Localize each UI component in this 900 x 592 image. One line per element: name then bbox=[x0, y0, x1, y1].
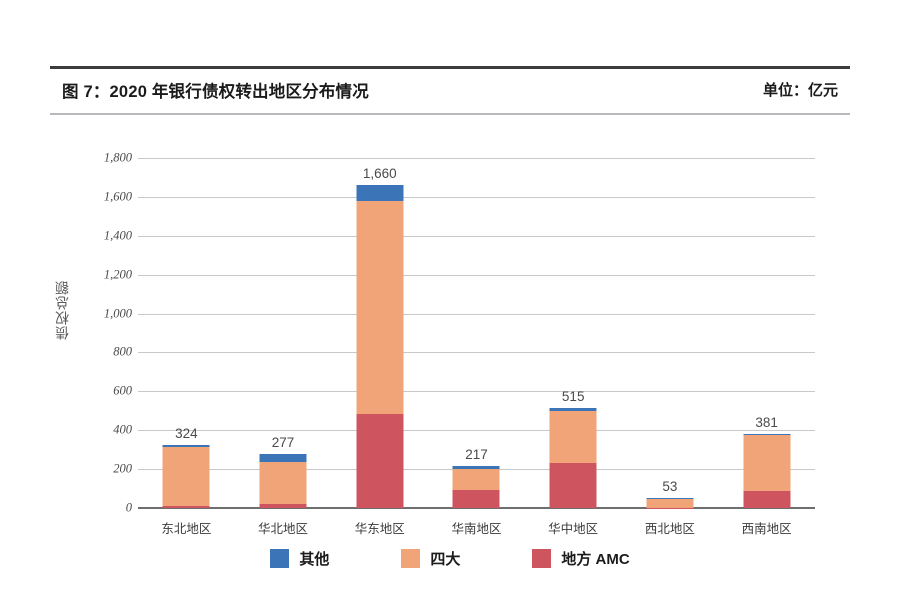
bar-group[interactable]: 277华北地区 bbox=[235, 158, 332, 508]
figure-container: 图 7：2020 年银行债权转出地区分布情况 单位：亿元 债权总额 020040… bbox=[0, 0, 900, 592]
bar-value-label: 277 bbox=[272, 435, 295, 450]
legend-swatch-orange bbox=[401, 549, 420, 568]
bar-segment[interactable] bbox=[550, 411, 597, 463]
y-axis-tick: 600 bbox=[74, 384, 132, 399]
bar-segment[interactable] bbox=[646, 499, 693, 508]
bar-segment[interactable] bbox=[743, 491, 790, 508]
y-axis-tick: 400 bbox=[74, 423, 132, 438]
stacked-bar[interactable] bbox=[260, 454, 307, 508]
legend-label: 其他 bbox=[299, 548, 329, 569]
x-axis-tick: 华中地区 bbox=[548, 518, 598, 537]
bar-segment[interactable] bbox=[356, 185, 403, 201]
bar-segment[interactable] bbox=[453, 469, 500, 489]
header-bottom-rule bbox=[50, 113, 850, 115]
bar-value-label: 381 bbox=[755, 415, 778, 430]
x-axis-tick: 华东地区 bbox=[355, 518, 405, 537]
stacked-bar[interactable] bbox=[743, 434, 790, 508]
bar-segment[interactable] bbox=[550, 463, 597, 508]
bar-value-label: 217 bbox=[465, 447, 488, 462]
bar-value-label: 515 bbox=[562, 389, 585, 404]
plot-area: 324东北地区277华北地区1,660华东地区217华南地区515华中地区53西… bbox=[138, 158, 815, 508]
bar-value-label: 53 bbox=[662, 479, 677, 494]
unit-note: 单位：亿元 bbox=[763, 79, 838, 100]
bar-group[interactable]: 381西南地区 bbox=[718, 158, 815, 508]
bar-segment[interactable] bbox=[163, 506, 210, 508]
header-top-rule bbox=[50, 66, 850, 69]
x-axis-tick: 华南地区 bbox=[451, 518, 501, 537]
legend-swatch-blue bbox=[270, 549, 289, 568]
x-axis-tick: 西南地区 bbox=[742, 518, 792, 537]
bar-group[interactable]: 324东北地区 bbox=[138, 158, 235, 508]
legend-item[interactable]: 其他 bbox=[270, 548, 329, 569]
bar-value-label: 1,660 bbox=[363, 166, 397, 181]
bar-group[interactable]: 1,660华东地区 bbox=[331, 158, 428, 508]
stacked-bar[interactable] bbox=[646, 498, 693, 508]
x-axis-tick: 西北地区 bbox=[645, 518, 695, 537]
bar-group[interactable]: 217华南地区 bbox=[428, 158, 525, 508]
page-title: 图 7：2020 年银行债权转出地区分布情况 bbox=[62, 78, 369, 102]
y-axis-tick: 1,600 bbox=[74, 189, 132, 204]
legend-label: 四大 bbox=[430, 548, 460, 569]
stacked-bar[interactable] bbox=[356, 185, 403, 508]
bar-group[interactable]: 515华中地区 bbox=[525, 158, 622, 508]
stacked-bar[interactable] bbox=[453, 466, 500, 508]
bar-segment[interactable] bbox=[260, 454, 307, 462]
legend-swatch-red bbox=[532, 549, 551, 568]
x-axis-tick: 东北地区 bbox=[161, 518, 211, 537]
bar-segment[interactable] bbox=[356, 201, 403, 414]
bar-value-label: 324 bbox=[175, 426, 198, 441]
bar-segment[interactable] bbox=[743, 435, 790, 490]
y-axis-tick: 0 bbox=[74, 501, 132, 516]
chart-legend: 其他四大地方 AMC bbox=[0, 548, 900, 569]
bar-segment[interactable] bbox=[260, 462, 307, 504]
bar-segment[interactable] bbox=[453, 490, 500, 508]
y-axis-tick: 800 bbox=[74, 345, 132, 360]
bar-segment[interactable] bbox=[163, 447, 210, 506]
y-axis-title: 债权总额 bbox=[52, 280, 72, 340]
y-axis-tick: 1,800 bbox=[74, 151, 132, 166]
bar-segment[interactable] bbox=[260, 504, 307, 508]
legend-item[interactable]: 四大 bbox=[401, 548, 460, 569]
legend-label: 地方 AMC bbox=[561, 548, 629, 569]
bar-group[interactable]: 53西北地区 bbox=[622, 158, 719, 508]
bar-segment[interactable] bbox=[356, 414, 403, 508]
y-axis-tick: 200 bbox=[74, 462, 132, 477]
y-axis-tick: 1,400 bbox=[74, 228, 132, 243]
y-axis-tick: 1,000 bbox=[74, 306, 132, 321]
x-axis-tick: 华北地区 bbox=[258, 518, 308, 537]
y-axis-tick: 1,200 bbox=[74, 267, 132, 282]
stacked-bar[interactable] bbox=[550, 408, 597, 508]
legend-item[interactable]: 地方 AMC bbox=[532, 548, 629, 569]
stacked-bar[interactable] bbox=[163, 445, 210, 508]
y-axis-tick-labels: 02004006008001,0001,2001,4001,6001,800 bbox=[70, 158, 132, 508]
